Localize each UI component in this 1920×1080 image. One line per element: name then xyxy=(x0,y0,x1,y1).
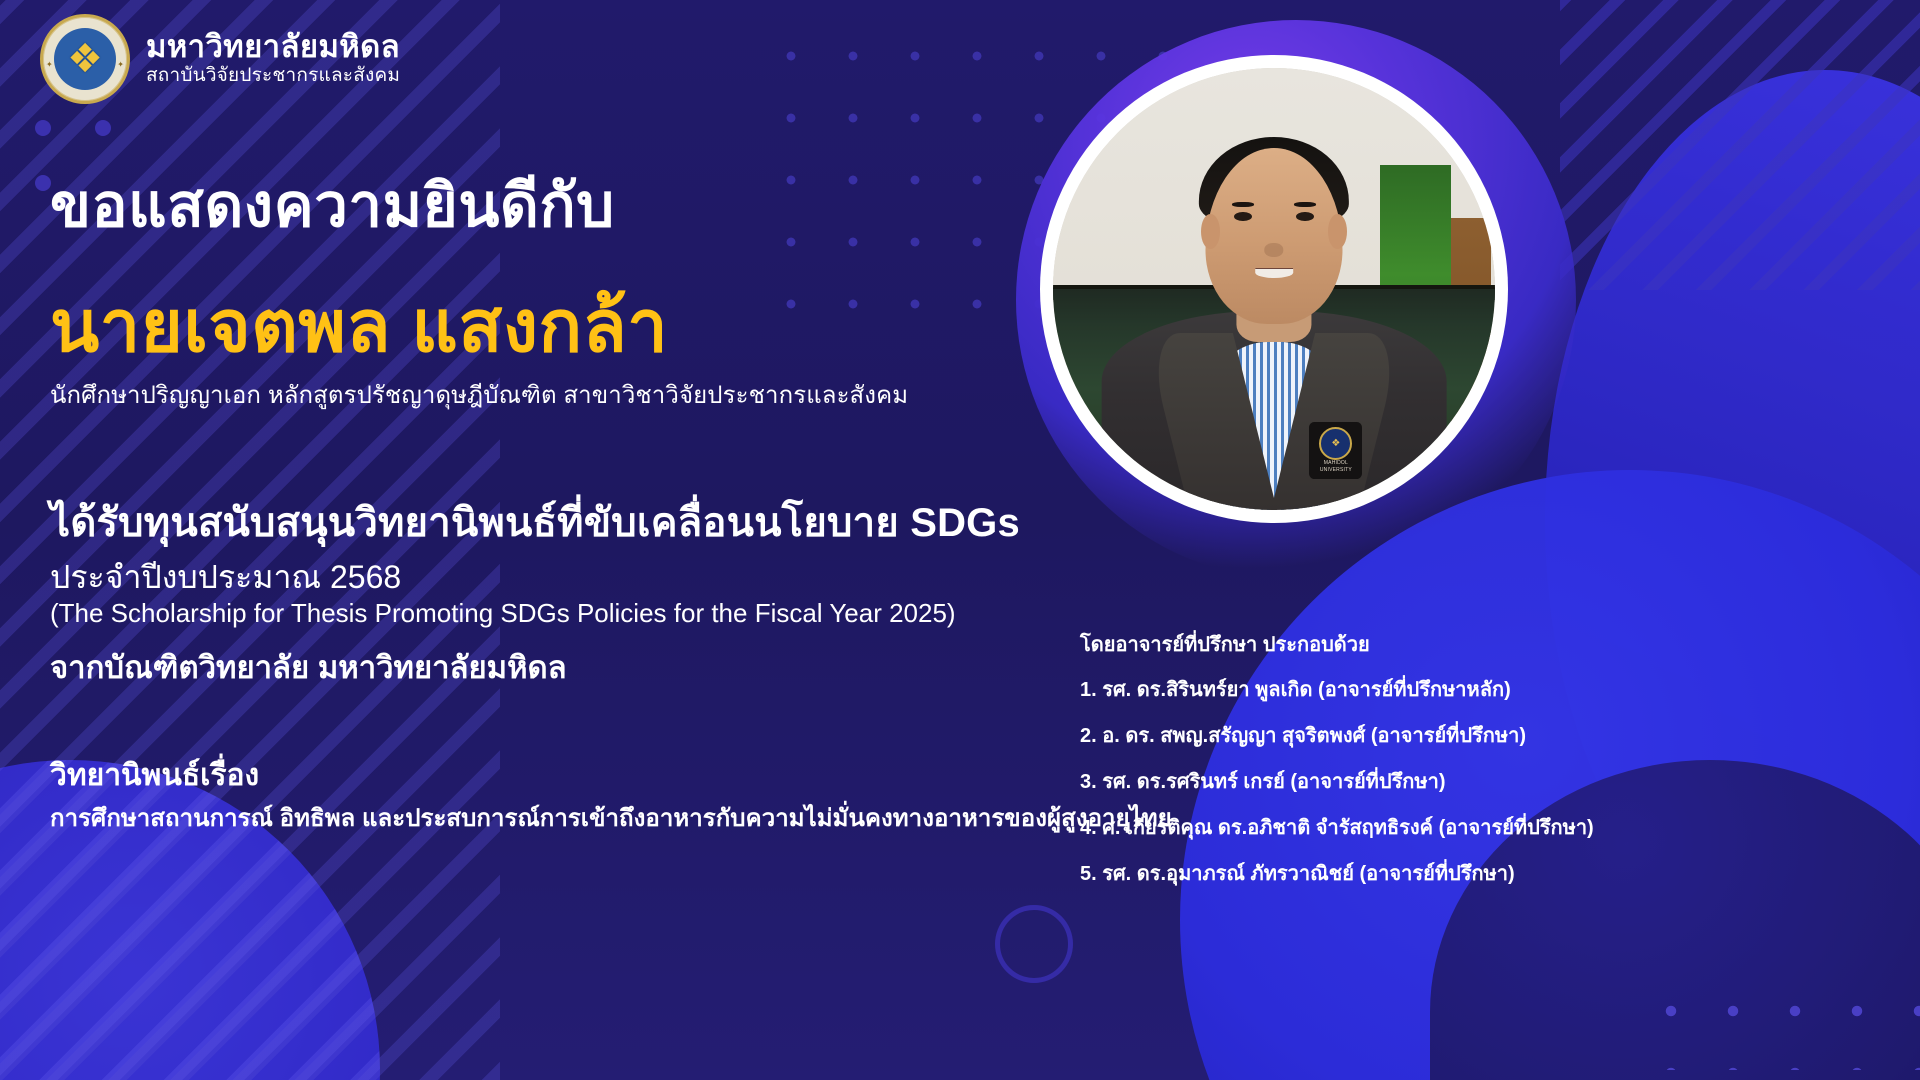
congratulations-heading: ขอแสดงความยินดีกับ xyxy=(50,158,615,253)
mahidol-seal-icon: ✦ ✦ ❖ xyxy=(40,14,130,104)
advisor-item: 5. รศ. ดร.อุมาภรณ์ ภัทรวาณิชย์ (อาจารย์ท… xyxy=(1080,857,1910,889)
awardee-program: นักศึกษาปริญญาเอก หลักสูตรปรัชญาดุษฎีบัณ… xyxy=(50,375,908,414)
thesis-label: วิทยานิพนธ์เรื่อง xyxy=(50,752,259,799)
brand-header: ✦ ✦ ❖ มหาวิทยาลัยมหิดล สถาบันวิจัยประชาก… xyxy=(40,14,400,104)
portrait: ❖ MAHIDOL UNIVERSITY xyxy=(1040,55,1508,523)
award-granted-by: จากบัณฑิตวิทยาลัย มหาวิทยาลัยมหิดล xyxy=(50,642,567,692)
advisor-item: 4. ศ. เกียรติคุณ ดร.อภิชาติ จำรัสฤทธิรงค… xyxy=(1080,811,1910,843)
mahidol-pin-icon: ❖ MAHIDOL UNIVERSITY xyxy=(1309,422,1362,479)
advisor-list: โดยอาจารย์ที่ปรึกษา ประกอบด้วย 1. รศ. ดร… xyxy=(1080,628,1910,903)
awardee-name: นายเจตพล แสงกล้า xyxy=(50,268,668,383)
award-title-english: (The Scholarship for Thesis Promoting SD… xyxy=(50,598,956,629)
brand-university-name: มหาวิทยาลัยมหิดล xyxy=(146,30,400,65)
advisor-item: 3. รศ. ดร.รศรินทร์ เกรย์ (อาจารย์ที่ปรึก… xyxy=(1080,765,1910,797)
award-fiscal-year: ประจำปีงบประมาณ 2568 xyxy=(50,552,401,603)
advisor-list-heading: โดยอาจารย์ที่ปรึกษา ประกอบด้วย xyxy=(1080,628,1910,660)
background-dot-grid-bottomright xyxy=(1640,980,1920,1070)
advisor-item: 2. อ. ดร. สพญ.สรัญญา สุจริตพงศ์ (อาจารย์… xyxy=(1080,719,1910,751)
pin-label-line1: MAHIDOL xyxy=(1324,461,1348,467)
pin-label-line2: UNIVERSITY xyxy=(1320,468,1352,474)
thesis-title: การศึกษาสถานการณ์ อิทธิพล และประสบการณ์ก… xyxy=(50,798,1172,837)
advisor-item: 1. รศ. ดร.สิรินทร์ยา พูลเกิด (อาจารย์ที่… xyxy=(1080,673,1910,705)
portrait-photo: ❖ MAHIDOL UNIVERSITY xyxy=(1053,68,1495,510)
poster-canvas: ❖ MAHIDOL UNIVERSITY ✦ ✦ ❖ มหาวิทยาลัยมห… xyxy=(0,0,1920,1080)
brand-institute-name: สถาบันวิจัยประชากรและสังคม xyxy=(146,65,400,88)
main-content: ขอแสดงความยินดีกับ นายเจตพล แสงกล้า นักศ… xyxy=(50,0,1170,1080)
award-title-thai: ได้รับทุนสนับสนุนวิทยานิพนธ์ที่ขับเคลื่อ… xyxy=(50,490,1020,554)
